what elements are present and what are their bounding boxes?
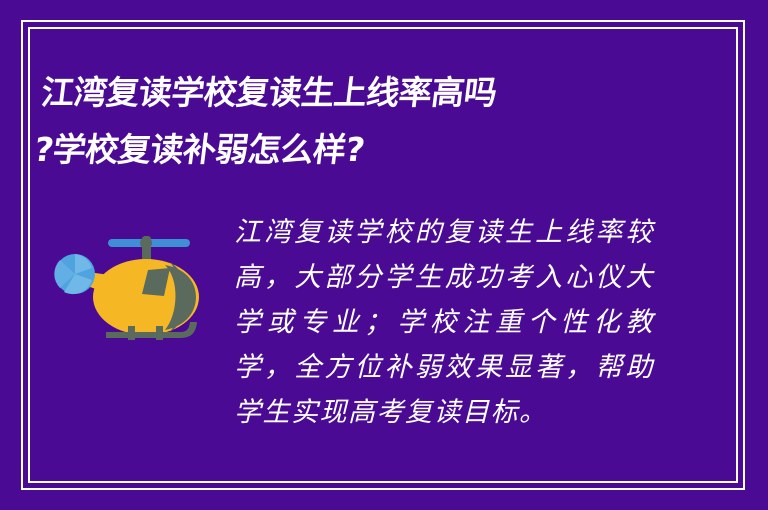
body-paragraph: 江湾复读学校的复读生上线率较高，大部分学生成功考入心仪大学或专业；学校注重个性化… xyxy=(234,210,654,435)
helicopter-illustration xyxy=(52,222,207,340)
poster-canvas: 江湾复读学校复读生上线率高吗 ?学校复读补弱怎么样? xyxy=(0,0,768,510)
headline-title: 江湾复读学校复读生上线率高吗 ?学校复读补弱怎么样? xyxy=(31,64,705,178)
